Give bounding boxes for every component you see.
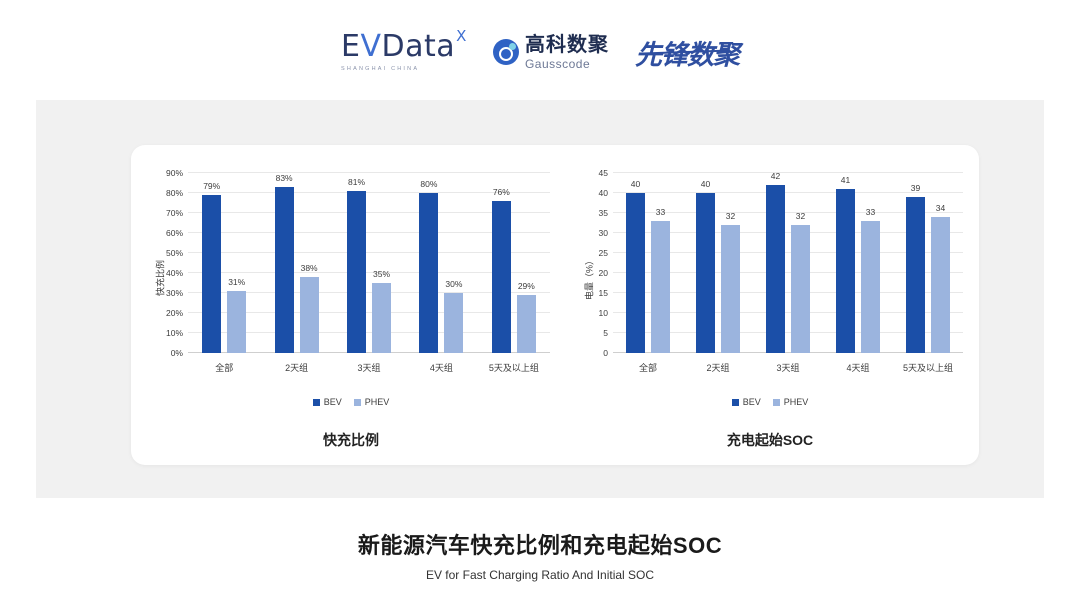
bar-groups-right: 4033全部40322天组42323天组41334天组39345天及以上组	[613, 173, 963, 353]
legend-swatch-bev-icon	[732, 399, 739, 406]
bar-phev: 33	[861, 221, 880, 353]
bar-value-label: 76%	[493, 187, 510, 197]
y-axis-tick-label: 0%	[171, 348, 183, 358]
x-axis-tick-label: 3天组	[358, 361, 381, 374]
legend-label-bev: BEV	[324, 397, 342, 407]
bar-value-label: 39	[911, 183, 920, 193]
y-axis-tick-label: 50%	[166, 248, 183, 258]
legend-swatch-bev-icon	[313, 399, 320, 406]
bar-value-label: 31%	[228, 277, 245, 287]
bar-value-label: 32	[726, 211, 735, 221]
bar-group: 41334天组	[823, 173, 893, 353]
bar-value-label: 80%	[420, 179, 437, 189]
gausscode-circle-icon	[493, 39, 519, 65]
x-axis-tick-label: 4天组	[846, 361, 869, 374]
figure-title-block: 新能源汽车快充比例和充电起始SOC EV for Fast Charging R…	[0, 528, 1080, 582]
plot-area-left: 快充比例 79%31%全部83%38%2天组81%35%3天组80%30%4天组…	[136, 163, 566, 393]
bar-phev: 29%	[517, 295, 536, 353]
chart-caption-right: 充电起始SOC	[561, 430, 979, 450]
legend-item-bev-right: BEV	[732, 397, 761, 407]
y-axis-tick-label: 40%	[166, 268, 183, 278]
plot-area-right: 电量（%） 4033全部40322天组42323天组41334天组39345天及…	[561, 163, 979, 393]
bar-group: 80%30%4天组	[405, 173, 477, 353]
y-axis-tick-label: 30	[599, 228, 608, 238]
bar-phev: 33	[651, 221, 670, 353]
legend-label-phev: PHEV	[365, 397, 390, 407]
bar-bev: 76%	[492, 201, 511, 353]
y-axis-tick-label: 20%	[166, 308, 183, 318]
y-axis-tick-label: 60%	[166, 228, 183, 238]
bar-group: 81%35%3天组	[333, 173, 405, 353]
gausscode-name-en: Gausscode	[525, 58, 609, 70]
bar-value-label: 30%	[445, 279, 462, 289]
bar-value-label: 41	[841, 175, 850, 185]
axis-area-left: 79%31%全部83%38%2天组81%35%3天组80%30%4天组76%29…	[188, 173, 550, 353]
bar-groups-left: 79%31%全部83%38%2天组81%35%3天组80%30%4天组76%29…	[188, 173, 550, 353]
y-axis-tick-label: 70%	[166, 208, 183, 218]
y-axis-tick-label: 40	[599, 188, 608, 198]
y-axis-tick-label: 10%	[166, 328, 183, 338]
xianfeng-name: 先锋数聚	[635, 40, 739, 70]
bar-phev: 38%	[300, 277, 319, 353]
bar-value-label: 40	[701, 179, 710, 189]
bar-value-label: 81%	[348, 177, 365, 187]
x-axis-tick-label: 2天组	[285, 361, 308, 374]
gausscode-name-cn: 高科数聚	[525, 35, 609, 55]
bar-value-label: 32	[796, 211, 805, 221]
bar-value-label: 42	[771, 171, 780, 181]
y-axis-tick-label: 5	[603, 328, 608, 338]
bar-value-label: 35%	[373, 269, 390, 279]
x-axis-tick-label: 全部	[215, 361, 233, 374]
y-axis-tick-label: 25	[599, 248, 608, 258]
evdata-x-icon: X	[456, 29, 467, 44]
legend-right: BEV PHEV	[561, 397, 979, 407]
x-axis-tick-label: 4天组	[430, 361, 453, 374]
chart-initial-soc: 电量（%） 4033全部40322天组42323天组41334天组39345天及…	[561, 145, 979, 465]
bar-value-label: 33	[656, 207, 665, 217]
y-axis-tick-label: 30%	[166, 288, 183, 298]
x-axis-tick-label: 5天及以上组	[489, 361, 539, 374]
bar-value-label: 79%	[203, 181, 220, 191]
evdata-tagline: SHANGHAI CHINA	[341, 66, 467, 72]
gausscode-wordmark: 高科数聚 Gausscode	[525, 35, 609, 70]
bar-bev: 40	[696, 193, 715, 353]
bar-value-label: 33	[866, 207, 875, 217]
x-axis-tick-label: 3天组	[776, 361, 799, 374]
bar-bev: 81%	[347, 191, 366, 353]
bar-group: 40322天组	[683, 173, 753, 353]
evdata-letter-v: V	[361, 32, 382, 62]
y-axis-tick-label: 90%	[166, 168, 183, 178]
logo-bar: EVDataX SHANGHAI CHINA 高科数聚 Gausscode 先锋…	[0, 24, 1080, 80]
legend-swatch-phev-icon	[354, 399, 361, 406]
figure-title-cn: 新能源汽车快充比例和充电起始SOC	[0, 528, 1080, 560]
chart-caption-left: 快充比例	[136, 430, 566, 450]
x-axis-tick-label: 2天组	[706, 361, 729, 374]
bar-bev: 39	[906, 197, 925, 353]
bar-bev: 40	[626, 193, 645, 353]
bar-group: 39345天及以上组	[893, 173, 963, 353]
bar-phev: 35%	[372, 283, 391, 353]
bar-phev: 30%	[444, 293, 463, 353]
bar-value-label: 29%	[518, 281, 535, 291]
bar-bev: 80%	[419, 193, 438, 353]
bar-group: 76%29%5天及以上组	[478, 173, 550, 353]
legend-label-phev: PHEV	[784, 397, 809, 407]
y-axis-tick-label: 45	[599, 168, 608, 178]
bar-bev: 79%	[202, 195, 221, 353]
legend-swatch-phev-icon	[773, 399, 780, 406]
legend-left: BEV PHEV	[136, 397, 566, 407]
bar-group: 79%31%全部	[188, 173, 260, 353]
y-axis-title-right: 电量（%）	[583, 256, 596, 300]
evdata-letter-rest: Data	[382, 32, 456, 62]
y-axis-tick-label: 80%	[166, 188, 183, 198]
bar-phev: 32	[721, 225, 740, 353]
y-axis-tick-label: 20	[599, 268, 608, 278]
bar-phev: 31%	[227, 291, 246, 353]
bar-bev: 42	[766, 185, 785, 353]
bar-value-label: 38%	[301, 263, 318, 273]
bar-bev: 83%	[275, 187, 294, 353]
chart-fast-charging-ratio: 快充比例 79%31%全部83%38%2天组81%35%3天组80%30%4天组…	[136, 145, 566, 465]
x-axis-tick-label: 全部	[639, 361, 657, 374]
evdata-logo: EVDataX SHANGHAI CHINA	[341, 28, 467, 76]
y-axis-tick-label: 10	[599, 308, 608, 318]
y-axis-tick-label: 15	[599, 288, 608, 298]
xianfeng-logo: 先锋数聚	[635, 33, 739, 72]
legend-label-bev: BEV	[743, 397, 761, 407]
y-axis-tick-label: 0	[603, 348, 608, 358]
bar-value-label: 40	[631, 179, 640, 189]
bar-bev: 41	[836, 189, 855, 353]
bar-group: 42323天组	[753, 173, 823, 353]
y-axis-tick-label: 35	[599, 208, 608, 218]
bar-value-label: 83%	[276, 173, 293, 183]
axis-area-right: 4033全部40322天组42323天组41334天组39345天及以上组 05…	[613, 173, 963, 353]
chart-panel-background: 快充比例 79%31%全部83%38%2天组81%35%3天组80%30%4天组…	[36, 100, 1044, 498]
evdata-wordmark: EVDataX	[341, 32, 467, 62]
legend-item-phev-right: PHEV	[773, 397, 809, 407]
bar-group: 4033全部	[613, 173, 683, 353]
bar-group: 83%38%2天组	[260, 173, 332, 353]
bar-value-label: 34	[936, 203, 945, 213]
gausscode-logo: 高科数聚 Gausscode	[493, 29, 609, 75]
chart-card: 快充比例 79%31%全部83%38%2天组81%35%3天组80%30%4天组…	[131, 145, 979, 465]
y-axis-title-left: 快充比例	[154, 260, 167, 296]
legend-item-phev-left: PHEV	[354, 397, 390, 407]
bar-phev: 32	[791, 225, 810, 353]
figure-title-en: EV for Fast Charging Ratio And Initial S…	[0, 568, 1080, 582]
evdata-letter-e: E	[341, 32, 360, 62]
legend-item-bev-left: BEV	[313, 397, 342, 407]
x-axis-tick-label: 5天及以上组	[903, 361, 953, 374]
bar-phev: 34	[931, 217, 950, 353]
